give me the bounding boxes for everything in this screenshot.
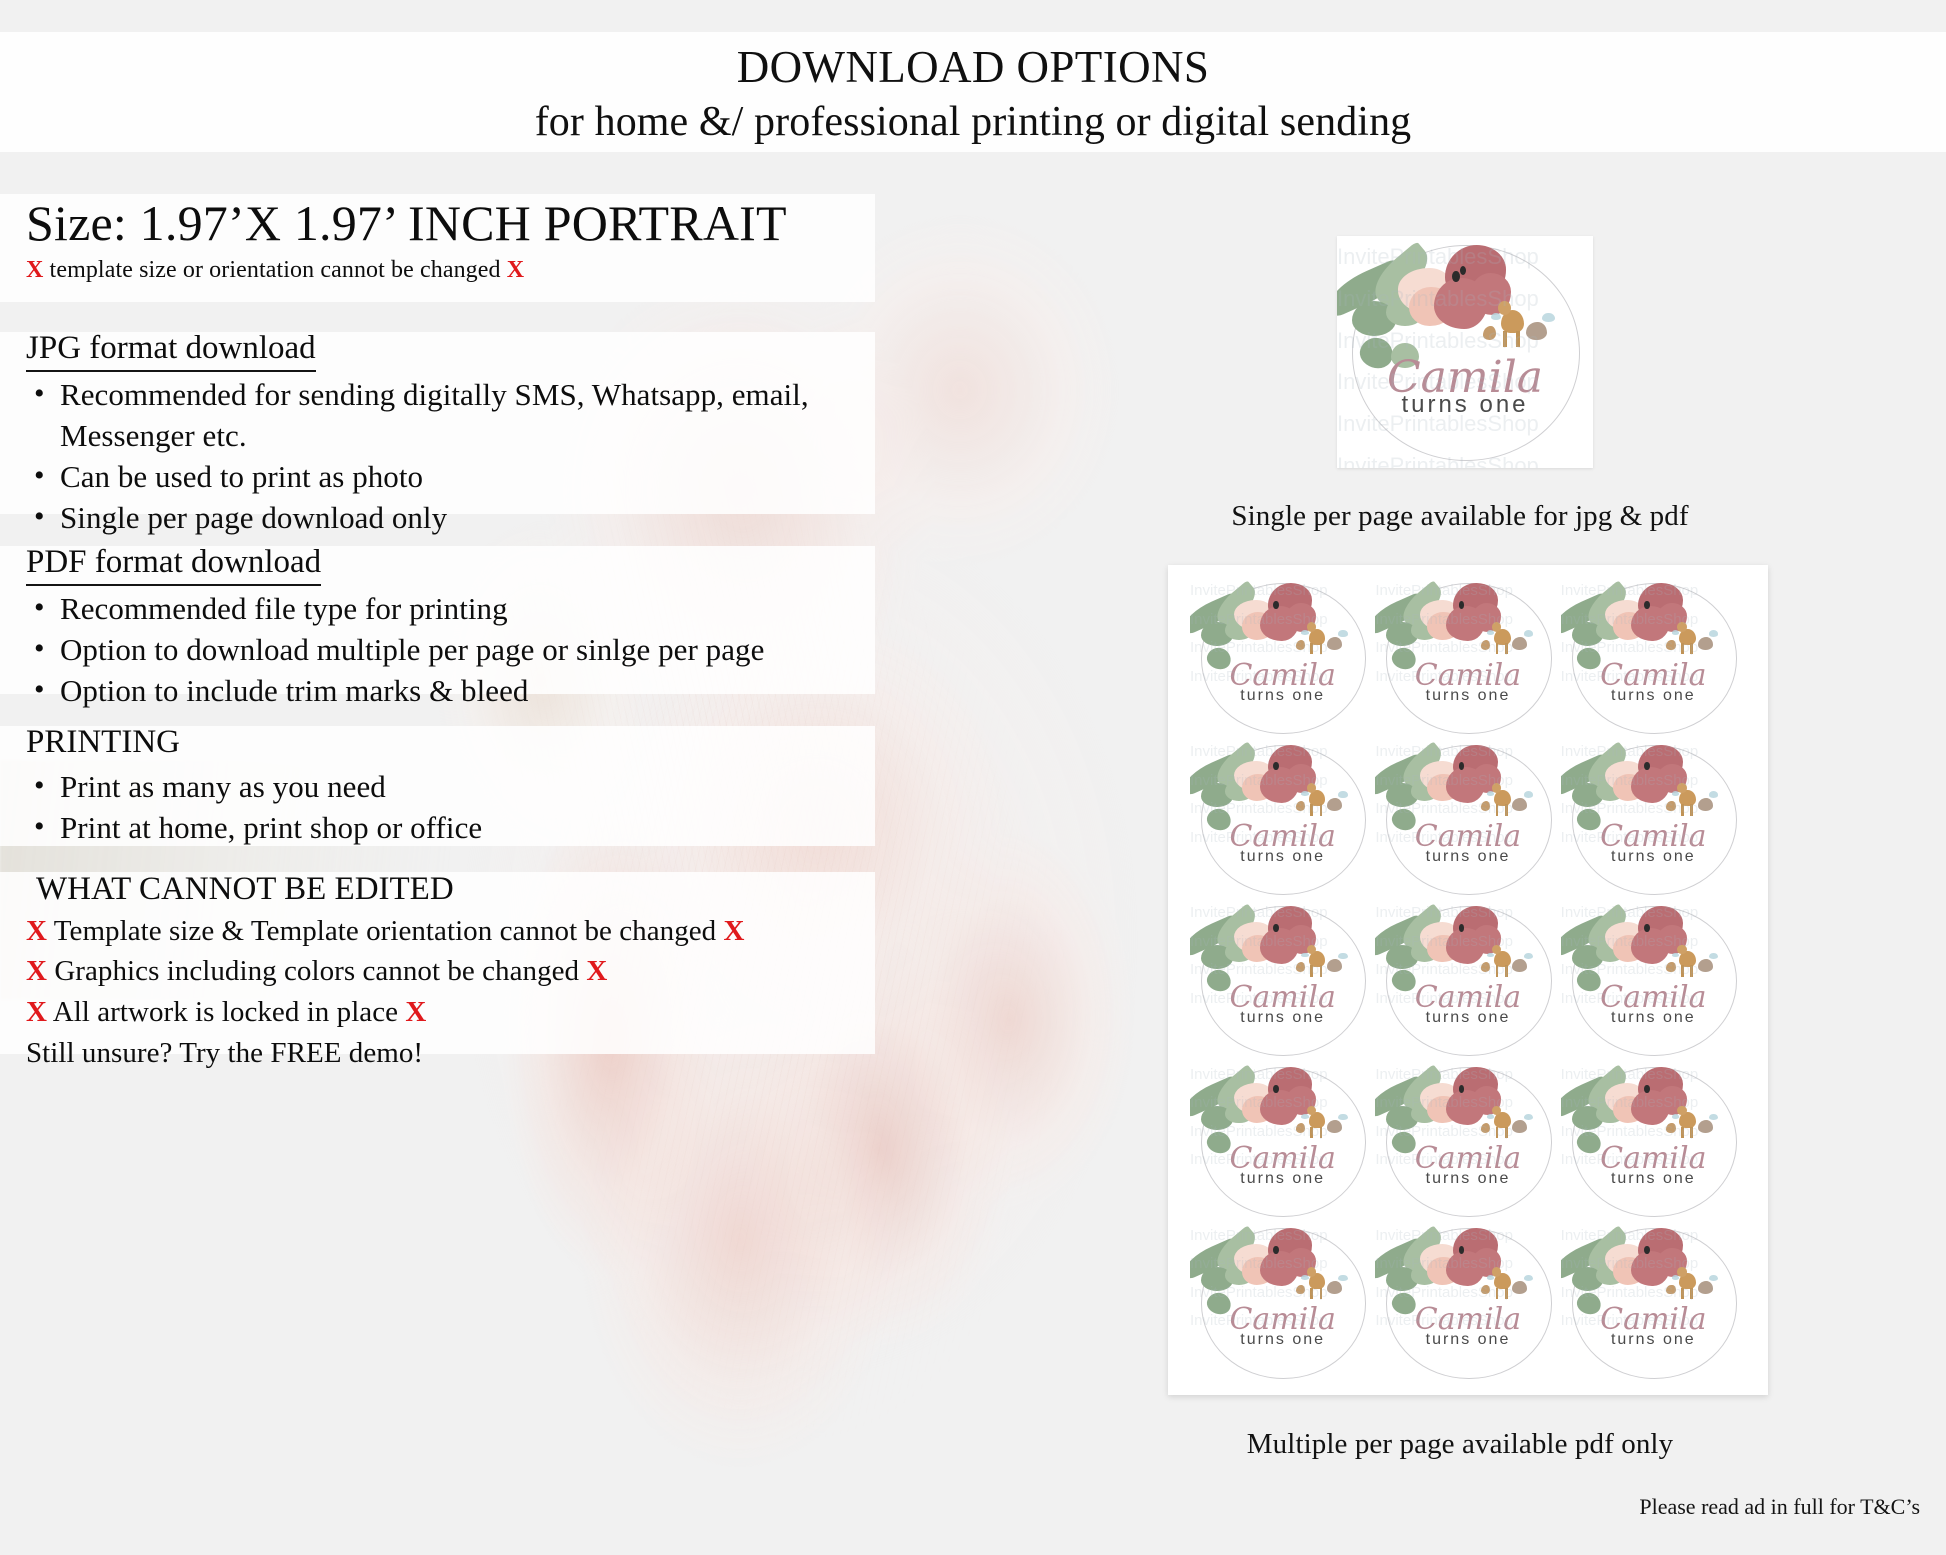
sticker-subtitle: turns one <box>1190 687 1375 705</box>
butterfly-icon <box>1301 791 1308 796</box>
butterfly-icon <box>1524 953 1533 959</box>
sticker-subtitle: turns one <box>1337 391 1593 419</box>
list-item: Print at home, print shop or office <box>26 808 886 849</box>
deer-icon <box>1505 1288 1508 1299</box>
multiple-preview-caption: Multiple per page available pdf only <box>1160 1428 1760 1461</box>
bunny-icon <box>1327 798 1342 811</box>
locked-section: WHAT CANNOT BE EDITED X Template size & … <box>26 868 886 1073</box>
sticker-artwork: Camilaturns oneInvitePrintablesShopInvit… <box>1561 1061 1746 1222</box>
butterfly-icon <box>1338 1275 1347 1281</box>
butterfly-icon <box>1542 313 1555 322</box>
jpg-section: JPG format download Recommended for send… <box>26 328 886 539</box>
sticker-grid: Camilaturns oneInvitePrintablesShopInvit… <box>1190 577 1746 1383</box>
butterfly-icon <box>1524 791 1533 797</box>
deer-icon <box>1310 965 1313 976</box>
deer-icon <box>1320 1288 1323 1299</box>
butterfly-icon <box>1709 791 1718 797</box>
printing-bullet-list: Print as many as you need Print at home,… <box>26 767 886 849</box>
deer-icon <box>1310 643 1313 654</box>
deer-icon <box>1496 1127 1499 1138</box>
deer-icon <box>1677 1267 1686 1277</box>
locked-heading: WHAT CANNOT BE EDITED <box>26 868 886 911</box>
deer-icon <box>1677 1106 1686 1116</box>
header: DOWNLOAD OPTIONS for home &/ professiona… <box>0 42 1946 149</box>
deer-icon <box>1496 643 1499 654</box>
sticker-artwork: Camilaturns oneInvitePrintablesShopInvit… <box>1375 1061 1560 1222</box>
deer-icon <box>1681 965 1684 976</box>
flower-stamen-icon <box>1273 924 1279 932</box>
sticker-artwork: Camilaturns oneInvitePrintablesShopInvit… <box>1190 1061 1375 1222</box>
bunny-icon <box>1327 1281 1342 1294</box>
bunny-icon <box>1698 959 1713 972</box>
deer-icon <box>1690 1127 1693 1138</box>
bird-icon <box>1483 326 1496 340</box>
page-subtitle: for home &/ professional printing or dig… <box>0 96 1946 149</box>
deer-icon <box>1310 804 1313 815</box>
sticker-artwork: Camilaturns oneInvitePrintablesShopInvit… <box>1561 577 1746 738</box>
sticker-cell: Camilaturns oneInvitePrintablesShopInvit… <box>1375 1222 1560 1383</box>
sticker-artwork: Camilaturns oneInvitePrintablesShopInvit… <box>1190 577 1375 738</box>
bird-icon <box>1296 1285 1305 1295</box>
flower-stamen-icon <box>1459 924 1465 932</box>
flower-stamen-icon <box>1644 601 1650 609</box>
bird-icon <box>1666 1123 1675 1133</box>
sticker-artwork: Camila turns one InvitePrintablesShop In… <box>1337 236 1593 468</box>
x-icon-left: X <box>26 257 43 283</box>
butterfly-icon <box>1524 1114 1533 1120</box>
x-icon-right: X <box>724 915 745 947</box>
deer-icon <box>1498 301 1511 315</box>
sticker-cell: Camilaturns oneInvitePrintablesShopInvit… <box>1561 738 1746 899</box>
bird-icon <box>1481 640 1490 650</box>
deer-icon <box>1503 331 1507 347</box>
bunny-icon <box>1698 637 1713 650</box>
deer-icon <box>1320 965 1323 976</box>
single-sticker-preview: Camila turns one InvitePrintablesShop In… <box>1337 236 1593 468</box>
list-item: Can be used to print as photo <box>26 457 886 498</box>
sticker-subtitle: turns one <box>1561 1009 1746 1027</box>
page-title: DOWNLOAD OPTIONS <box>0 42 1946 92</box>
sticker-artwork: Camilaturns oneInvitePrintablesShopInvit… <box>1375 738 1560 899</box>
bunny-icon <box>1526 322 1546 341</box>
sticker-artwork: Camilaturns oneInvitePrintablesShopInvit… <box>1375 899 1560 1060</box>
butterfly-icon <box>1487 630 1494 635</box>
list-item: Recommended for sending digitally SMS, W… <box>26 375 886 457</box>
bird-icon <box>1481 801 1490 811</box>
deer-icon <box>1516 331 1520 347</box>
deer-icon <box>1681 643 1684 654</box>
butterfly-icon <box>1301 1275 1308 1280</box>
sticker-cell: Camilaturns oneInvitePrintablesShopInvit… <box>1190 577 1375 738</box>
butterfly-icon <box>1709 1114 1718 1120</box>
list-item: Single per page download only <box>26 498 886 539</box>
deer-icon <box>1690 804 1693 815</box>
bird-icon <box>1296 640 1305 650</box>
butterfly-icon <box>1338 791 1347 797</box>
deer-icon <box>1496 965 1499 976</box>
bunny-icon <box>1512 798 1527 811</box>
deer-icon <box>1320 1127 1323 1138</box>
deer-icon <box>1505 643 1508 654</box>
size-title: Size: 1.97’X 1.97’ INCH PORTRAIT <box>26 197 886 250</box>
locked-line: X All artwork is locked in place X <box>26 992 886 1033</box>
sticker-subtitle: turns one <box>1375 1009 1560 1027</box>
sticker-subtitle: turns one <box>1375 1331 1560 1349</box>
bird-icon <box>1296 801 1305 811</box>
printing-heading: PRINTING <box>26 722 180 764</box>
deer-icon <box>1690 643 1693 654</box>
list-item: Recommended file type for printing <box>26 589 886 630</box>
sticker-subtitle: turns one <box>1561 848 1746 866</box>
printing-section: PRINTING Print as many as you need Print… <box>26 722 886 849</box>
sticker-subtitle: turns one <box>1190 1009 1375 1027</box>
sticker-cell: Camilaturns oneInvitePrintablesShopInvit… <box>1375 738 1560 899</box>
deer-icon <box>1681 1127 1684 1138</box>
sticker-artwork: Camilaturns oneInvitePrintablesShopInvit… <box>1375 577 1560 738</box>
sticker-cell: Camilaturns oneInvitePrintablesShopInvit… <box>1561 577 1746 738</box>
sticker-cell: Camilaturns oneInvitePrintablesShopInvit… <box>1190 1222 1375 1383</box>
list-item: Option to include trim marks & bleed <box>26 671 886 712</box>
locked-line: X Graphics including colors cannot be ch… <box>26 951 886 992</box>
sticker-cell: Camilaturns oneInvitePrintablesShopInvit… <box>1190 1061 1375 1222</box>
bird-icon <box>1296 1123 1305 1133</box>
jpg-heading: JPG format download <box>26 328 316 372</box>
sticker-artwork: Camilaturns oneInvitePrintablesShopInvit… <box>1190 738 1375 899</box>
bunny-icon <box>1512 1120 1527 1133</box>
size-section: Size: 1.97’X 1.97’ INCH PORTRAIT X templ… <box>26 197 886 286</box>
x-icon-left: X <box>26 915 47 947</box>
list-item: Option to download multiple per page or … <box>26 630 886 671</box>
size-note-text: template size or orientation cannot be c… <box>50 257 501 283</box>
bird-icon <box>1666 1285 1675 1295</box>
deer-icon <box>1320 804 1323 815</box>
butterfly-icon <box>1672 630 1679 635</box>
sticker-subtitle: turns one <box>1190 848 1375 866</box>
deer-icon <box>1681 804 1684 815</box>
bunny-icon <box>1512 959 1527 972</box>
butterfly-icon <box>1301 630 1308 635</box>
bunny-icon <box>1327 637 1342 650</box>
butterfly-icon <box>1338 1114 1347 1120</box>
sticker-artwork: Camilaturns oneInvitePrintablesShopInvit… <box>1561 1222 1746 1383</box>
flower-stamen-icon <box>1273 1246 1279 1254</box>
sticker-artwork: Camilaturns oneInvitePrintablesShopInvit… <box>1561 738 1746 899</box>
butterfly-icon <box>1491 313 1501 320</box>
butterfly-icon <box>1338 953 1347 959</box>
locked-line: X Template size & Template orientation c… <box>26 911 886 952</box>
sticker-subtitle: turns one <box>1561 687 1746 705</box>
butterfly-icon <box>1487 791 1494 796</box>
flower-stamen-icon <box>1273 1085 1279 1093</box>
bunny-icon <box>1698 1281 1713 1294</box>
locked-line-text: Template size & Template orientation can… <box>54 915 716 947</box>
sticker-artwork: Camilaturns oneInvitePrintablesShopInvit… <box>1375 1222 1560 1383</box>
flower-stamen-icon <box>1644 1246 1650 1254</box>
deer-icon <box>1505 965 1508 976</box>
locked-footer: Still unsure? Try the FREE demo! <box>26 1033 886 1074</box>
x-icon-right: X <box>507 257 524 283</box>
butterfly-icon <box>1487 1114 1494 1119</box>
sticker-cell: Camilaturns oneInvitePrintablesShopInvit… <box>1561 1222 1746 1383</box>
bird-icon <box>1666 962 1675 972</box>
butterfly-icon <box>1301 953 1308 958</box>
deer-icon <box>1681 1288 1684 1299</box>
sticker-subtitle: turns one <box>1375 848 1560 866</box>
sticker-subtitle: turns one <box>1561 1331 1746 1349</box>
locked-line-text: All artwork is locked in place <box>53 996 398 1028</box>
deer-icon <box>1496 1288 1499 1299</box>
deer-icon <box>1677 783 1686 793</box>
bird-icon <box>1666 640 1675 650</box>
deer-icon <box>1505 804 1508 815</box>
deer-icon <box>1492 1267 1501 1277</box>
single-preview-caption: Single per page available for jpg & pdf <box>1160 500 1760 533</box>
butterfly-icon <box>1487 1275 1494 1280</box>
bird-icon <box>1666 801 1675 811</box>
sticker-subtitle: turns one <box>1561 1170 1746 1188</box>
list-item: Print as many as you need <box>26 767 886 808</box>
sticker-cell: Camilaturns oneInvitePrintablesShopInvit… <box>1190 738 1375 899</box>
jpg-bullet-list: Recommended for sending digitally SMS, W… <box>26 375 886 539</box>
butterfly-icon <box>1672 1114 1679 1119</box>
deer-icon <box>1677 622 1686 632</box>
sticker-subtitle: turns one <box>1190 1170 1375 1188</box>
sticker-cell: Camilaturns oneInvitePrintablesShopInvit… <box>1375 577 1560 738</box>
flower-stamen-icon <box>1644 762 1650 770</box>
bird-icon <box>1296 962 1305 972</box>
flower-stamen-icon <box>1644 924 1650 932</box>
sticker-cell: Camilaturns oneInvitePrintablesShopInvit… <box>1190 899 1375 1060</box>
x-icon-right: X <box>586 955 607 987</box>
flower-stamen-icon <box>1459 1085 1465 1093</box>
sticker-cell: Camilaturns oneInvitePrintablesShopInvit… <box>1375 1061 1560 1222</box>
multi-sticker-sheet: Camilaturns oneInvitePrintablesShopInvit… <box>1168 565 1768 1395</box>
deer-icon <box>1690 965 1693 976</box>
flower-stamen-icon <box>1644 1085 1650 1093</box>
sticker-cell: Camilaturns oneInvitePrintablesShopInvit… <box>1561 899 1746 1060</box>
bunny-icon <box>1698 1120 1713 1133</box>
butterfly-icon <box>1709 953 1718 959</box>
bird-icon <box>1481 962 1490 972</box>
deer-icon <box>1677 945 1686 955</box>
deer-icon <box>1310 1127 1313 1138</box>
pdf-section: PDF format download Recommended file typ… <box>26 542 886 712</box>
size-note: X template size or orientation cannot be… <box>26 254 886 286</box>
x-icon-left: X <box>26 955 47 987</box>
sticker-cell: Camilaturns oneInvitePrintablesShopInvit… <box>1561 1061 1746 1222</box>
sticker-subtitle: turns one <box>1375 1170 1560 1188</box>
deer-icon <box>1496 804 1499 815</box>
poster-canvas: DOWNLOAD OPTIONS for home &/ professiona… <box>0 0 1946 1555</box>
bunny-icon <box>1512 637 1527 650</box>
deer-icon <box>1310 1288 1313 1299</box>
x-icon-left: X <box>26 996 47 1028</box>
butterfly-icon <box>1338 630 1347 636</box>
pdf-heading: PDF format download <box>26 542 321 586</box>
bunny-icon <box>1698 798 1713 811</box>
deer-icon <box>1320 643 1323 654</box>
butterfly-icon <box>1524 630 1533 636</box>
sticker-artwork: Camilaturns oneInvitePrintablesShopInvit… <box>1190 899 1375 1060</box>
sticker-artwork: Camilaturns oneInvitePrintablesShopInvit… <box>1190 1222 1375 1383</box>
locked-line-text: Graphics including colors cannot be chan… <box>54 955 579 987</box>
flower-stamen-icon <box>1452 271 1460 283</box>
deer-icon <box>1690 1288 1693 1299</box>
pdf-bullet-list: Recommended file type for printing Optio… <box>26 589 886 712</box>
sticker-cell: Camilaturns oneInvitePrintablesShopInvit… <box>1375 899 1560 1060</box>
terms-note: Please read ad in full for T&C’s <box>1300 1494 1920 1520</box>
butterfly-icon <box>1709 630 1718 636</box>
sticker-artwork: Camilaturns oneInvitePrintablesShopInvit… <box>1561 899 1746 1060</box>
deer-icon <box>1505 1127 1508 1138</box>
butterfly-icon <box>1672 1275 1679 1280</box>
sticker-subtitle: turns one <box>1190 1331 1375 1349</box>
x-icon-right: X <box>405 996 426 1028</box>
bunny-icon <box>1327 1120 1342 1133</box>
butterfly-icon <box>1301 1114 1308 1119</box>
bunny-icon <box>1327 959 1342 972</box>
sticker-subtitle: turns one <box>1375 687 1560 705</box>
